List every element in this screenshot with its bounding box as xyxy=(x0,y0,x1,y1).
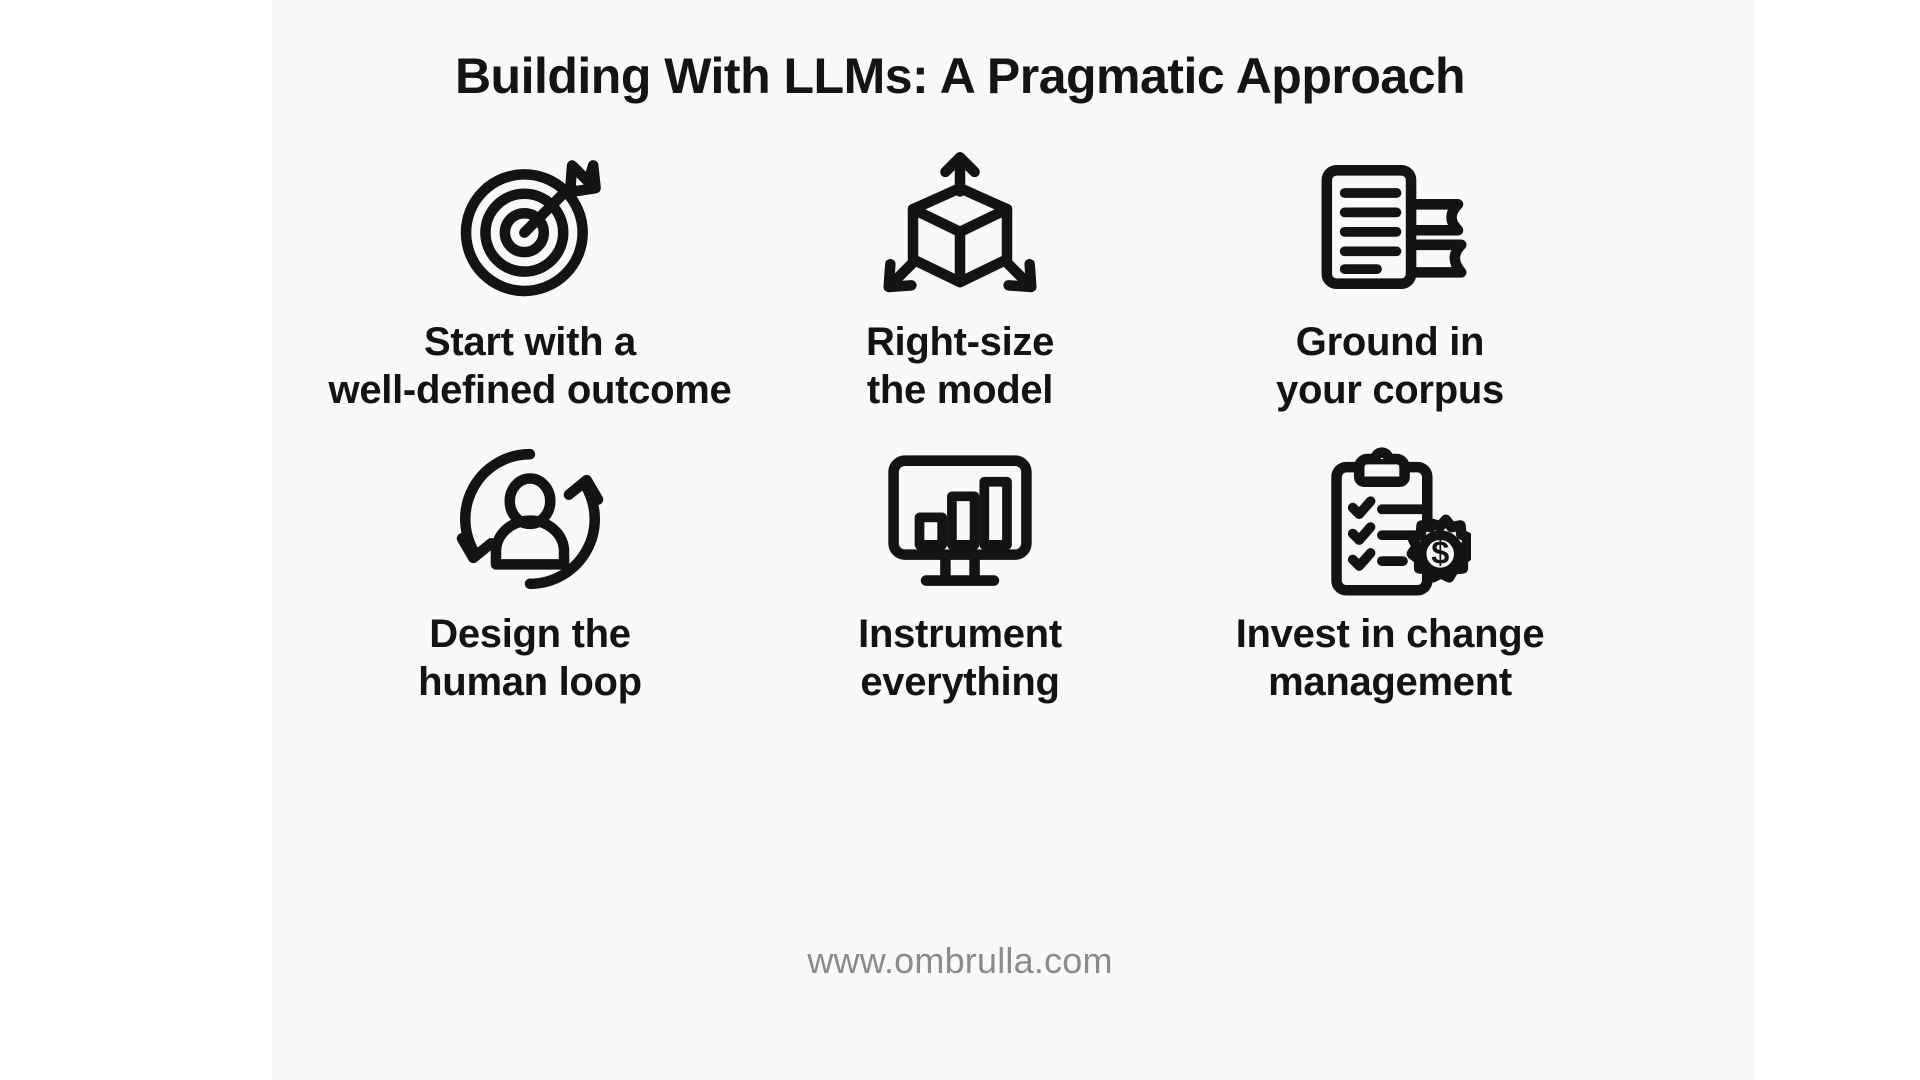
page-title: Building With LLMs: A Pragmatic Approach xyxy=(455,48,1465,104)
infographic-canvas: Building With LLMs: A Pragmatic Approach… xyxy=(0,0,1920,1080)
card-right-size-model: Right-size the model xyxy=(745,138,1175,414)
card-invest-change-management: $ Invest in change management xyxy=(1175,430,1605,706)
card-label: Instrument everything xyxy=(858,610,1062,706)
target-arrow-icon xyxy=(441,138,619,316)
card-instrument-everything: Instrument everything xyxy=(745,430,1175,706)
card-ground-in-corpus: Ground in your corpus xyxy=(1175,138,1605,414)
clipboard-checklist-gear-dollar-icon: $ xyxy=(1301,430,1479,608)
footer-url: www.ombrulla.com xyxy=(0,940,1920,982)
content-stack: Building With LLMs: A Pragmatic Approach… xyxy=(0,0,1920,1080)
card-start-with-outcome: Start with a well-defined outcome xyxy=(315,138,745,414)
card-label: Start with a well-defined outcome xyxy=(329,318,732,414)
card-label: Ground in your corpus xyxy=(1276,318,1504,414)
monitor-bar-chart-icon xyxy=(871,430,1049,608)
svg-text:$: $ xyxy=(1431,535,1449,571)
document-books-icon xyxy=(1301,138,1479,316)
card-label: Design the human loop xyxy=(418,610,642,706)
person-loop-icon xyxy=(441,430,619,608)
card-label: Right-size the model xyxy=(866,318,1054,414)
card-label: Invest in change management xyxy=(1236,610,1545,706)
cube-scale-arrows-icon xyxy=(871,138,1049,316)
cards-grid: Start with a well-defined outcome xyxy=(315,138,1605,706)
card-design-human-loop: Design the human loop xyxy=(315,430,745,706)
